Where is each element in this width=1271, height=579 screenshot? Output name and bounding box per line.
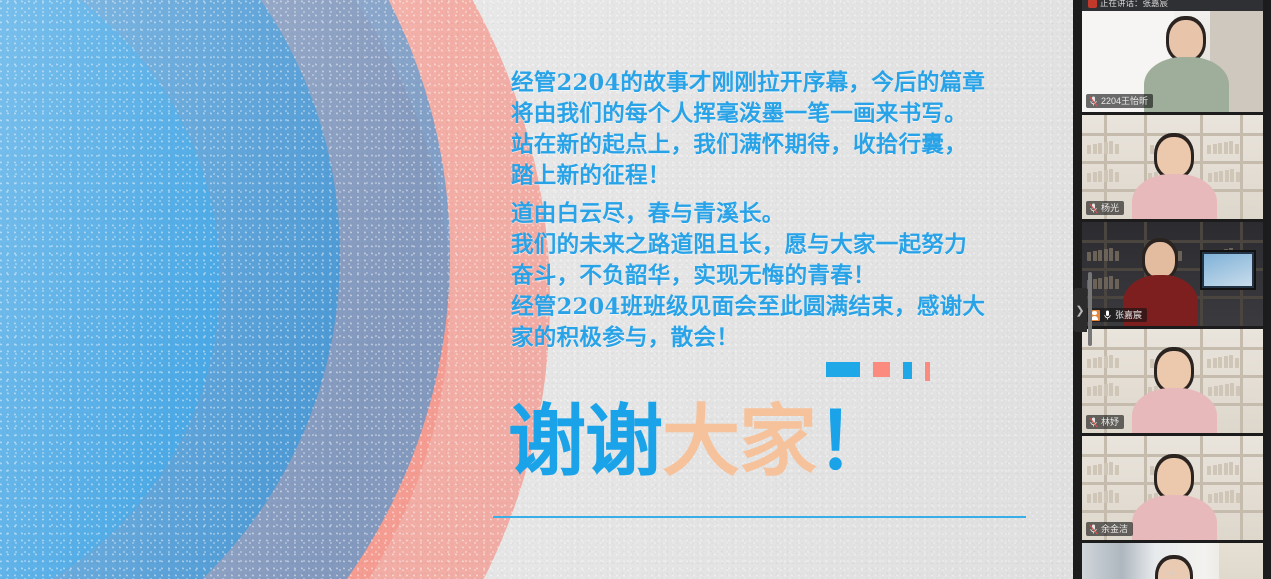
participant-name-badge: 余金洁: [1086, 522, 1133, 536]
slide-paragraph-1: 经管2204的故事才刚刚拉开序幕，今后的篇章 将由我们的每个人挥毫泼墨一笔一画来…: [511, 68, 985, 192]
decorative-bar-group: [826, 362, 930, 381]
bar-salmon-thin: [925, 362, 930, 381]
active-speaker-label: 正在讲话：张嘉宸: [1100, 0, 1168, 11]
participant-tile[interactable]: 余金洁: [1082, 436, 1263, 540]
active-speaker-banner: 正在讲话：张嘉宸: [1082, 0, 1263, 11]
participant-name-label: 张嘉宸: [1115, 308, 1142, 322]
chevron-right-icon: ❯: [1075, 304, 1084, 317]
participant-name-badge: 林妤: [1086, 415, 1124, 429]
collapse-panel-button[interactable]: ❯: [1073, 288, 1087, 332]
slide-title-exclamation: ！: [816, 397, 893, 487]
participant-name-label: 余金洁: [1101, 522, 1128, 536]
speaker-icon: [1088, 0, 1097, 8]
mic-icon: [1103, 310, 1112, 321]
slide-title-part-blue: 谢谢: [508, 397, 662, 487]
bar-salmon-mid: [873, 362, 890, 377]
mic-muted-icon: [1089, 417, 1098, 428]
participant-tile[interactable]: 杨光: [1082, 115, 1263, 219]
mic-muted-icon: [1089, 96, 1098, 107]
presentation-slide: 经管2204的故事才刚刚拉开序幕，今后的篇章 将由我们的每个人挥毫泼墨一笔一画来…: [0, 0, 1073, 579]
participant-video-rail: 正在讲话：张嘉宸 2204王怡昕杨光张嘉宸林妤余金洁 ⌄: [1073, 0, 1271, 579]
participant-name-badge: 2204王怡昕: [1086, 94, 1153, 108]
slide-underline-rule: [493, 516, 1026, 518]
mic-muted-icon: [1089, 203, 1098, 214]
participant-name-label: 杨光: [1101, 201, 1119, 215]
slide-title-part-peach: 大家: [662, 397, 816, 487]
participant-tile[interactable]: 张嘉宸: [1082, 222, 1263, 326]
participant-name-label: 2204王怡昕: [1101, 94, 1148, 108]
scroll-down-chevron-icon[interactable]: ⌄: [1167, 565, 1177, 577]
participant-tile[interactable]: 2204王怡昕: [1082, 8, 1263, 112]
mic-muted-icon: [1089, 524, 1098, 535]
meeting-screen-share-view: 经管2204的故事才刚刚拉开序幕，今后的篇章 将由我们的每个人挥毫泼墨一笔一画来…: [0, 0, 1271, 579]
slide-title: 谢谢大家！: [508, 398, 893, 486]
participant-tile[interactable]: 林妤: [1082, 329, 1263, 433]
bar-blue-wide: [826, 362, 860, 377]
video-rail-scrollbar[interactable]: [1088, 272, 1092, 346]
participant-name-badge: 杨光: [1086, 201, 1124, 215]
participant-tile-list: 2204王怡昕杨光张嘉宸林妤余金洁: [1082, 8, 1271, 579]
slide-paragraph-2: 道由白云尽，春与青溪长。 我们的未来之路道阻且长，愿与大家一起努力 奋斗，不负韶…: [511, 199, 985, 354]
participant-name-badge: 张嘉宸: [1086, 308, 1147, 322]
participant-name-label: 林妤: [1101, 415, 1119, 429]
bar-blue-narrow: [903, 362, 912, 379]
